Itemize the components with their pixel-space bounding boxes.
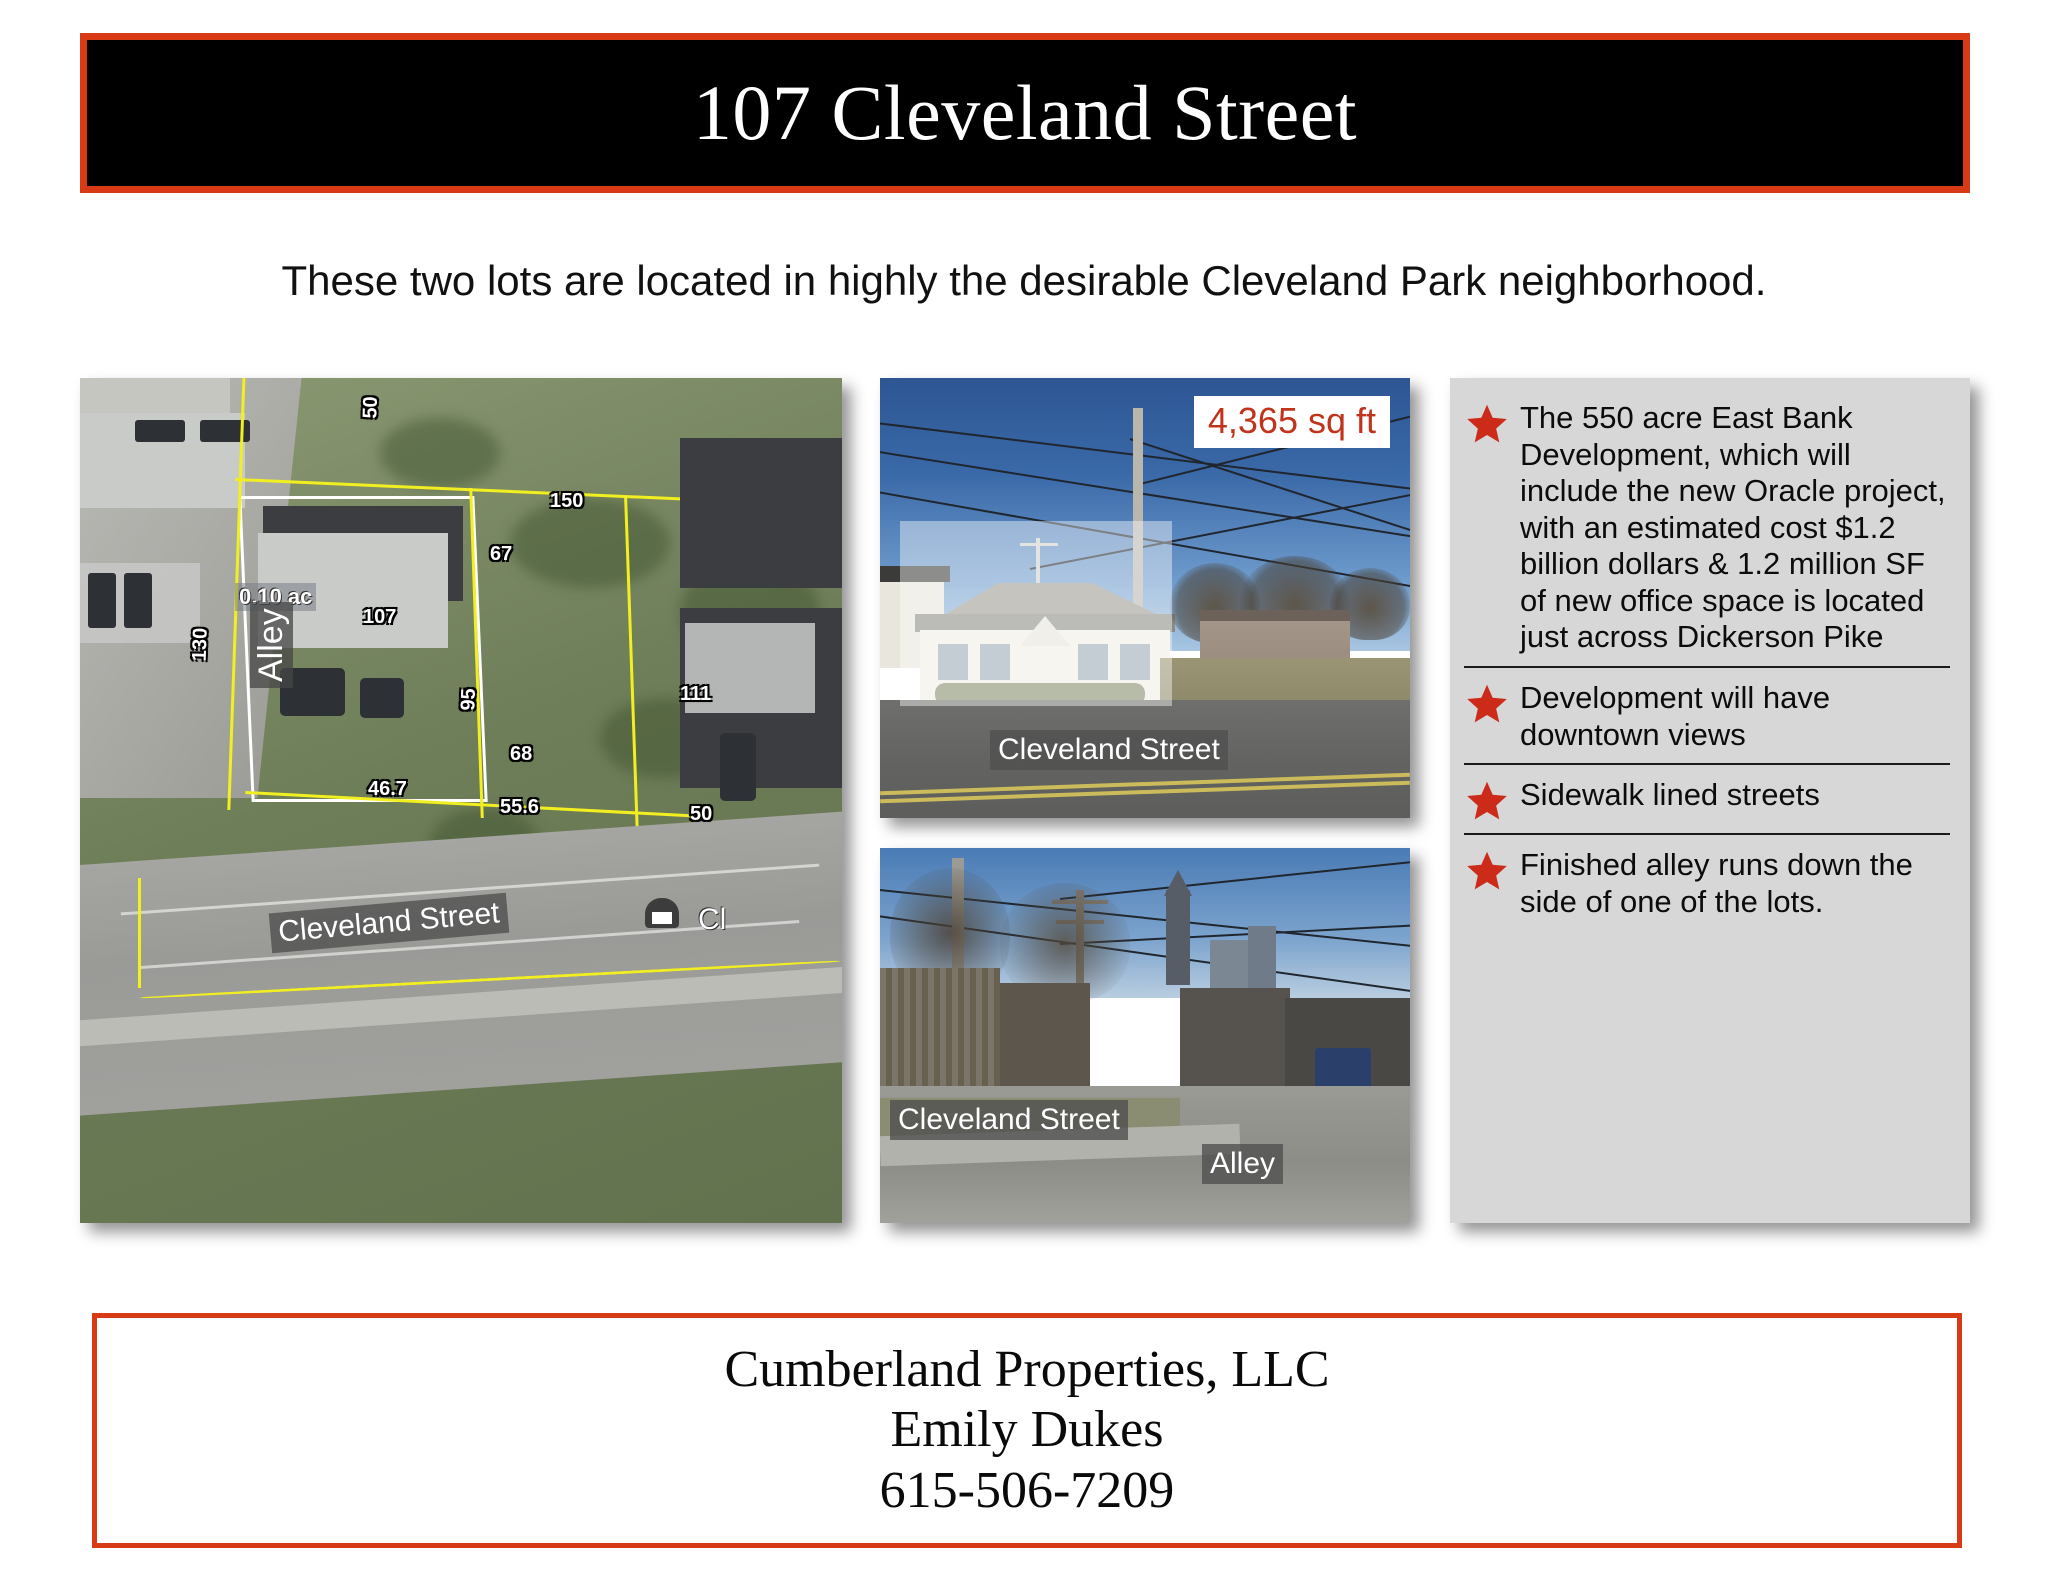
photo-column: 4,365 sq ft Cleveland Street bbox=[880, 378, 1410, 1223]
grass-texture bbox=[380, 418, 500, 488]
stone-house bbox=[1200, 610, 1350, 660]
neighbor-building bbox=[680, 438, 842, 588]
title-banner: 107 Cleveland Street bbox=[80, 33, 1970, 193]
garage bbox=[1180, 988, 1290, 1098]
map-dimension-label: 111 bbox=[680, 683, 711, 706]
lot-highlight-overlay bbox=[900, 521, 1172, 706]
church-tower bbox=[1166, 890, 1190, 985]
parcel-line-corner bbox=[138, 878, 141, 988]
star-icon bbox=[1464, 682, 1510, 726]
map-house-number-label: 107 bbox=[363, 606, 396, 629]
vehicle bbox=[88, 573, 116, 628]
square-footage-badge: 4,365 sq ft bbox=[1194, 396, 1390, 448]
map-dimension-label: 150 bbox=[550, 490, 583, 513]
feature-text: Finished alley runs down the side of one… bbox=[1520, 847, 1950, 920]
feature-item: Finished alley runs down the side of one… bbox=[1464, 833, 1950, 930]
star-icon bbox=[1464, 402, 1510, 446]
map-dimension-label: 55.6 bbox=[500, 796, 539, 819]
phone-number: 615-506-7209 bbox=[880, 1462, 1175, 1520]
page-title: 107 Cleveland Street bbox=[693, 74, 1357, 152]
street-view-photo: 4,365 sq ft Cleveland Street bbox=[880, 378, 1410, 818]
feature-item: Development will have downtown views bbox=[1464, 666, 1950, 763]
vehicle bbox=[360, 678, 404, 718]
company-name: Cumberland Properties, LLC bbox=[724, 1341, 1329, 1399]
photo-street-caption: Cleveland Street bbox=[990, 730, 1228, 770]
map-alley-label: Alley bbox=[250, 602, 293, 688]
feature-text: The 550 acre East Bank Development, whic… bbox=[1520, 400, 1950, 656]
aerial-map-image: 50 150 67 107 130 95 68 46.7 55.6 111 50… bbox=[80, 378, 842, 1223]
map-dimension-label: 50 bbox=[359, 396, 383, 419]
map-dimension-label: 50 bbox=[690, 803, 712, 826]
feature-text: Sidewalk lined streets bbox=[1520, 777, 1820, 814]
star-icon bbox=[1464, 779, 1510, 823]
feature-item: The 550 acre East Bank Development, whic… bbox=[1464, 394, 1950, 666]
subtitle-text: These two lots are located in highly the… bbox=[0, 257, 2048, 305]
vehicle bbox=[124, 573, 152, 628]
content-row: 50 150 67 107 130 95 68 46.7 55.6 111 50… bbox=[0, 378, 2048, 1228]
garage bbox=[1000, 983, 1090, 1103]
vehicle bbox=[135, 420, 185, 442]
grass-lawn bbox=[1160, 658, 1410, 700]
features-panel: The 550 acre East Bank Development, whic… bbox=[1450, 378, 1970, 1223]
map-dimension-label: 130 bbox=[189, 627, 213, 661]
map-dimension-label: 67 bbox=[490, 543, 512, 566]
feature-text: Development will have downtown views bbox=[1520, 680, 1950, 753]
map-poi-icon bbox=[645, 898, 679, 928]
map-dimension-label: 95 bbox=[457, 688, 481, 711]
alley-photo-alley-caption: Alley bbox=[1202, 1144, 1283, 1184]
contact-footer: Cumberland Properties, LLC Emily Dukes 6… bbox=[92, 1313, 1962, 1548]
map-dimension-label: 68 bbox=[510, 743, 532, 766]
map-dimension-label: 46.7 bbox=[368, 778, 407, 801]
alley-photo-street-caption: Cleveland Street bbox=[890, 1100, 1128, 1140]
feature-item: Sidewalk lined streets bbox=[1464, 763, 1950, 833]
grass-texture bbox=[510, 498, 670, 588]
vehicle bbox=[720, 733, 756, 801]
agent-name: Emily Dukes bbox=[891, 1401, 1164, 1459]
map-street-label-secondary: Cl bbox=[690, 900, 734, 940]
alley-view-photo: Cleveland Street Alley bbox=[880, 848, 1410, 1223]
star-icon bbox=[1464, 849, 1510, 893]
